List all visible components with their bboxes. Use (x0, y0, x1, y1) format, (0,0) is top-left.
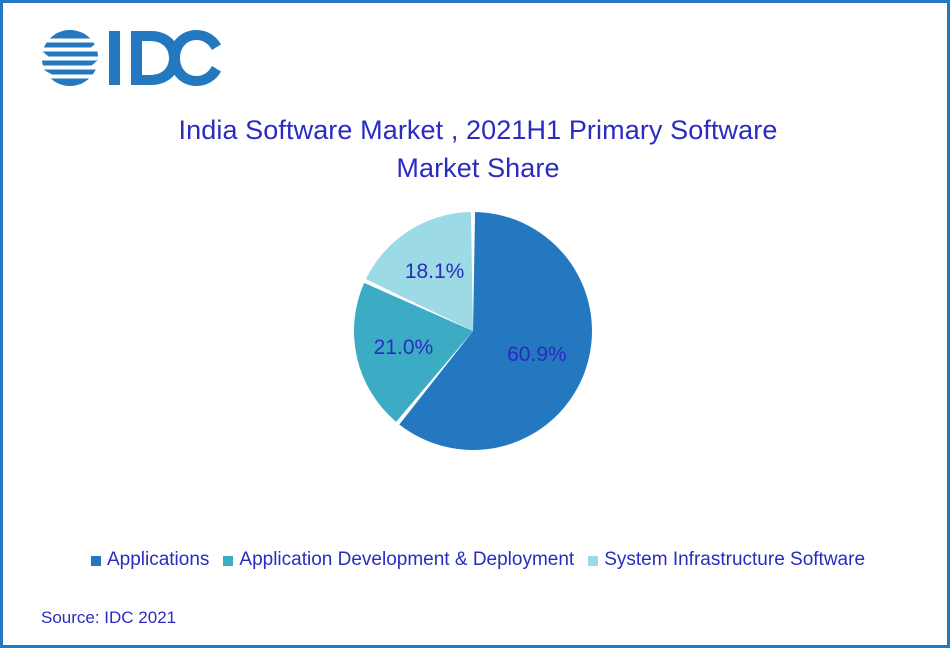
legend-swatch-icon (91, 556, 101, 566)
slide-canvas: India Software Market , 2021H1 Primary S… (0, 0, 950, 648)
chart-title: India Software Market , 2021H1 Primary S… (98, 111, 858, 187)
idc-logo (39, 27, 224, 89)
pie-slice-label: 18.1% (405, 260, 465, 283)
pie-slice (399, 212, 592, 450)
pie-slices (354, 212, 592, 450)
legend-item[interactable]: Applications (91, 549, 209, 571)
idc-globe-icon (39, 30, 101, 86)
pie-slice (366, 212, 473, 331)
legend-label: Application Development & Deployment (239, 549, 574, 571)
legend-label: System Infrastructure Software (604, 549, 865, 571)
source-note: Source: IDC 2021 (41, 607, 176, 629)
pie-data-labels: 60.9%21.0%18.1% (374, 260, 567, 366)
legend-item[interactable]: Application Development & Deployment (223, 549, 574, 571)
chart-title-line2: Market Share (98, 149, 858, 187)
legend-label: Applications (107, 549, 209, 571)
chart-title-line1: India Software Market , 2021H1 Primary S… (98, 111, 858, 149)
legend-swatch-icon (223, 556, 233, 566)
legend-swatch-icon (588, 556, 598, 566)
pie-slice-label: 60.9% (507, 343, 567, 366)
chart-legend: ApplicationsApplication Development & De… (3, 549, 950, 571)
pie-slice-label: 21.0% (374, 336, 434, 359)
pie-slice (354, 283, 473, 422)
idc-wordmark (109, 30, 221, 86)
legend-item[interactable]: System Infrastructure Software (588, 549, 865, 571)
